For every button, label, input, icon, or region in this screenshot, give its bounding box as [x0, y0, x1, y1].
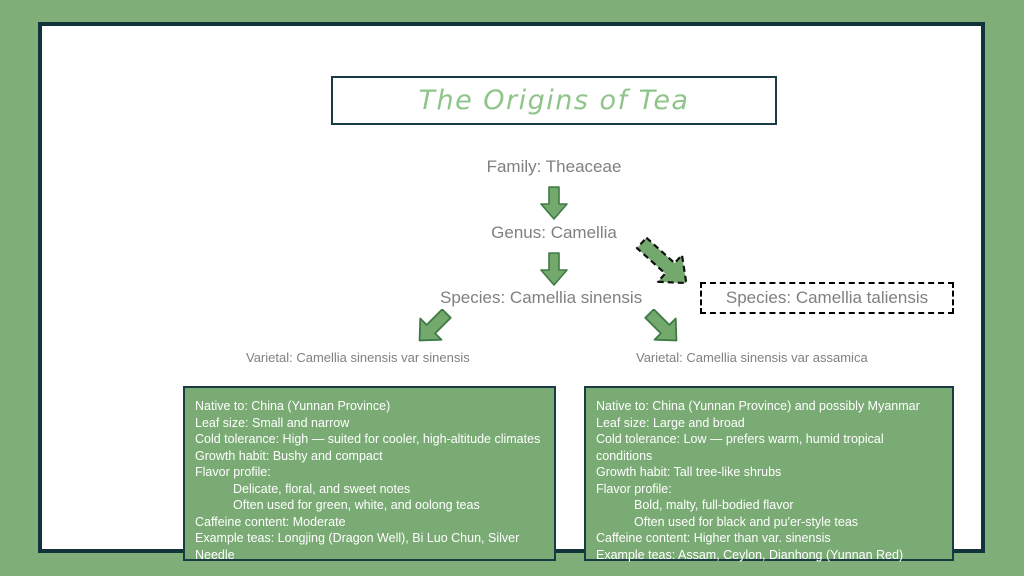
info-line: Caffeine content: Moderate — [195, 514, 544, 531]
info-line: Native to: China (Yunnan Province) and p… — [596, 398, 942, 415]
down-arrow-icon — [539, 252, 569, 286]
node-species-sinensis-label: Species: Camellia sinensis — [440, 288, 642, 307]
node-species-taliensis-label: Species: Camellia taliensis — [726, 288, 928, 308]
down-arrow-icon — [539, 186, 569, 220]
info-line: Delicate, floral, and sweet notes — [195, 481, 544, 498]
title-box: The Origins of Tea — [331, 76, 777, 125]
info-line: Growth habit: Tall tree-like shrubs — [596, 464, 942, 481]
diagonal-down-left-arrow-icon — [410, 309, 456, 345]
info-line: Cold tolerance: Low — prefers warm, humi… — [596, 431, 942, 464]
slide-root: The Origins of Tea Family: Theaceae Genu… — [0, 0, 1024, 576]
page-title: The Origins of Tea — [419, 85, 690, 116]
diagonal-dashed-arrow-icon — [628, 237, 700, 289]
node-genus: Genus: Camellia — [42, 223, 1024, 243]
info-box-assamica: Native to: China (Yunnan Province) and p… — [584, 386, 954, 561]
info-line: Caffeine content: Higher than var. sinen… — [596, 530, 942, 547]
info-box-sinensis: Native to: China (Yunnan Province)Leaf s… — [183, 386, 556, 561]
info-line: Native to: China (Yunnan Province) — [195, 398, 544, 415]
varietal-sinensis-label: Varietal: Camellia sinensis var sinensis — [246, 350, 470, 365]
node-family-label: Family: Theaceae — [487, 157, 622, 176]
node-species-taliensis-box: Species: Camellia taliensis — [700, 282, 954, 314]
diagonal-down-right-arrow-icon — [640, 309, 686, 345]
info-line: Leaf size: Small and narrow — [195, 415, 544, 432]
info-line: Often used for black and pu'er-style tea… — [596, 514, 942, 531]
info-line: Cold tolerance: High — suited for cooler… — [195, 431, 544, 448]
info-line: Often used for green, white, and oolong … — [195, 497, 544, 514]
node-family: Family: Theaceae — [42, 157, 1024, 177]
info-line: Flavor profile: — [195, 464, 544, 481]
info-line: Example teas: Assam, Ceylon, Dianhong (Y… — [596, 547, 942, 564]
info-line: Flavor profile: — [596, 481, 942, 498]
info-line: Leaf size: Large and broad — [596, 415, 942, 432]
info-line: Example teas: Longjing (Dragon Well), Bi… — [195, 530, 544, 563]
node-species-sinensis: Species: Camellia sinensis — [440, 288, 642, 308]
info-line: Bold, malty, full-bodied flavor — [596, 497, 942, 514]
varietal-assamica-label: Varietal: Camellia sinensis var assamica — [636, 350, 868, 365]
slide-canvas: The Origins of Tea Family: Theaceae Genu… — [38, 22, 985, 553]
info-line: Growth habit: Bushy and compact — [195, 448, 544, 465]
node-genus-label: Genus: Camellia — [491, 223, 617, 242]
